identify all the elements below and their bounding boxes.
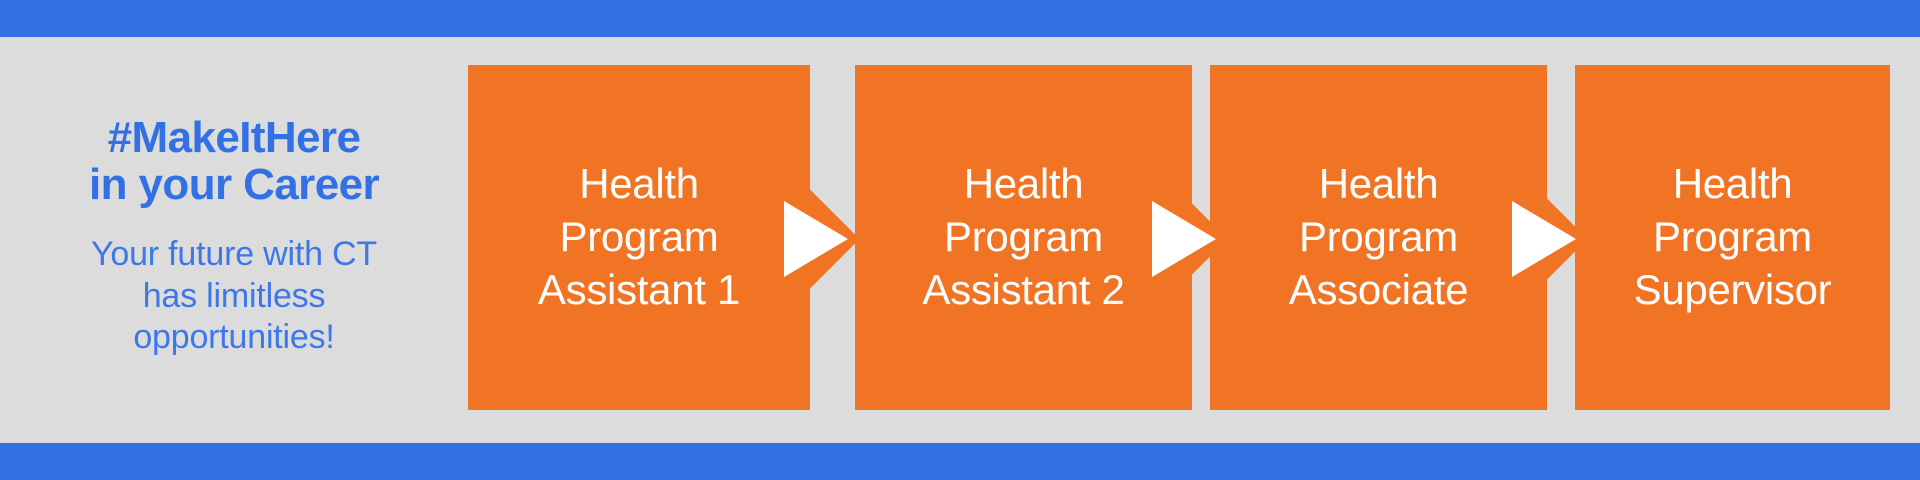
- ladder-step-label: Health Program Assistant 2: [922, 158, 1124, 317]
- ladder-step-label: Health Program Assistant 1: [538, 158, 740, 317]
- ladder-step-label: Health Program Supervisor: [1634, 158, 1832, 317]
- ladder-step-health-program-assistant-2[interactable]: Health Program Assistant 2: [855, 65, 1192, 410]
- ladder-step-health-program-associate[interactable]: Health Program Associate: [1210, 65, 1547, 410]
- career-ladder: Health Program Assistant 1 Health Progra…: [468, 65, 1890, 410]
- promo-subtext: Your future with CT has limitless opport…: [91, 234, 377, 358]
- bottom-accent-bar: [0, 443, 1920, 480]
- ladder-step-health-program-assistant-1[interactable]: Health Program Assistant 1: [468, 65, 810, 410]
- ladder-step-health-program-supervisor[interactable]: Health Program Supervisor: [1575, 65, 1890, 410]
- top-accent-bar: [0, 0, 1920, 37]
- promo-headline: #MakeItHere in your Career: [89, 115, 379, 208]
- ladder-step-label: Health Program Associate: [1289, 158, 1468, 317]
- career-ladder-banner: #MakeItHere in your Career Your future w…: [0, 0, 1920, 480]
- promo-block: #MakeItHere in your Career Your future w…: [0, 37, 468, 443]
